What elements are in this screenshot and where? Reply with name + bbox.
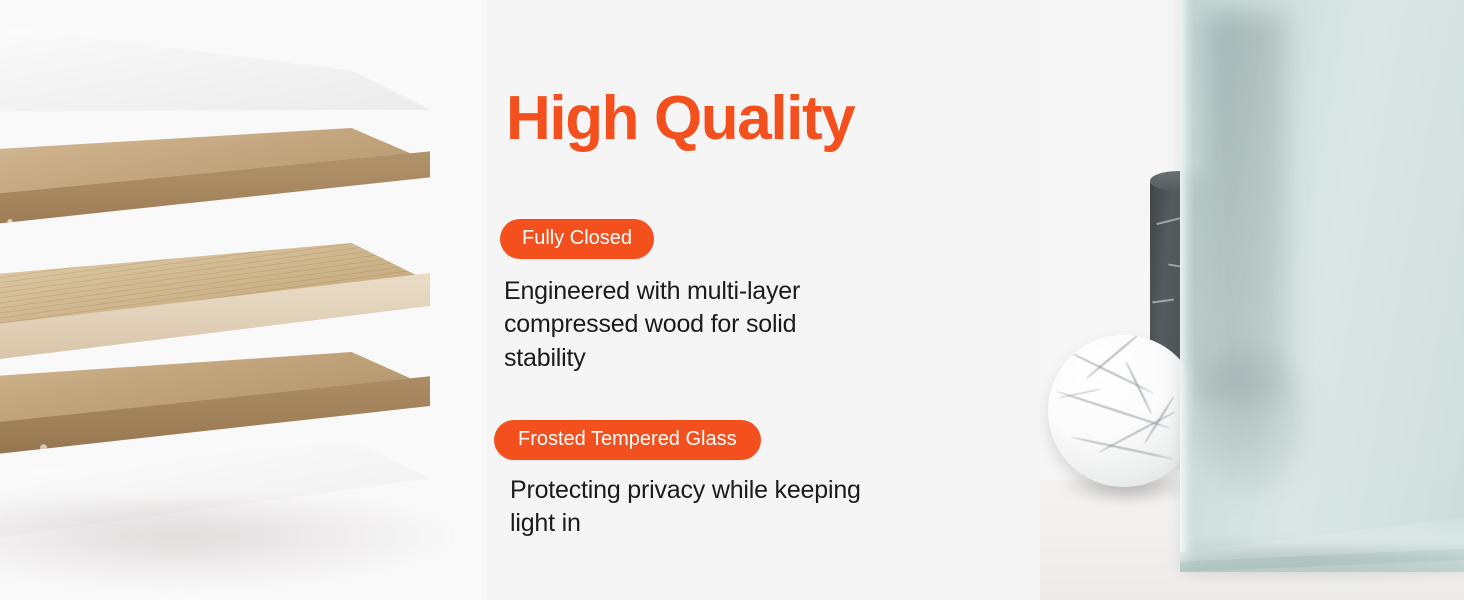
glass-drop-shadow [1190, 542, 1464, 582]
headline: High Quality [506, 88, 854, 150]
feature-description-frosted-glass: Protecting privacy while keeping light i… [510, 474, 880, 541]
sphere-silhouette-through-glass [1190, 344, 1310, 494]
glass-left-bevel-edge [1180, 0, 1194, 572]
layered-board-illustration [0, 0, 487, 600]
copy-panel: High Quality Fully Closed Engineered wit… [487, 0, 1040, 600]
sphere-vein [1126, 361, 1153, 414]
feature-badge-fully-closed: Fully Closed [500, 219, 654, 259]
white-marble-sphere [1048, 335, 1200, 487]
board-drop-shadow [0, 500, 460, 590]
feature-item-fully-closed: Fully Closed Engineered with multi-layer… [500, 219, 874, 375]
cylinder-vein [1156, 217, 1182, 225]
feature-item-frosted-glass: Frosted Tempered Glass Protecting privac… [500, 420, 880, 541]
frosted-tempered-glass-panel [1180, 0, 1464, 572]
product-feature-banner: High Quality Fully Closed Engineered wit… [0, 0, 1464, 600]
frosted-glass-image-panel [1040, 0, 1464, 600]
cylinder-vein [1152, 298, 1174, 303]
particleboard-core-upper-layer [0, 128, 430, 258]
layered-board-image-panel [0, 0, 487, 600]
feature-description-fully-closed: Engineered with multi-layer compressed w… [504, 275, 874, 375]
feature-badge-frosted-tempered-glass: Frosted Tempered Glass [494, 420, 761, 460]
